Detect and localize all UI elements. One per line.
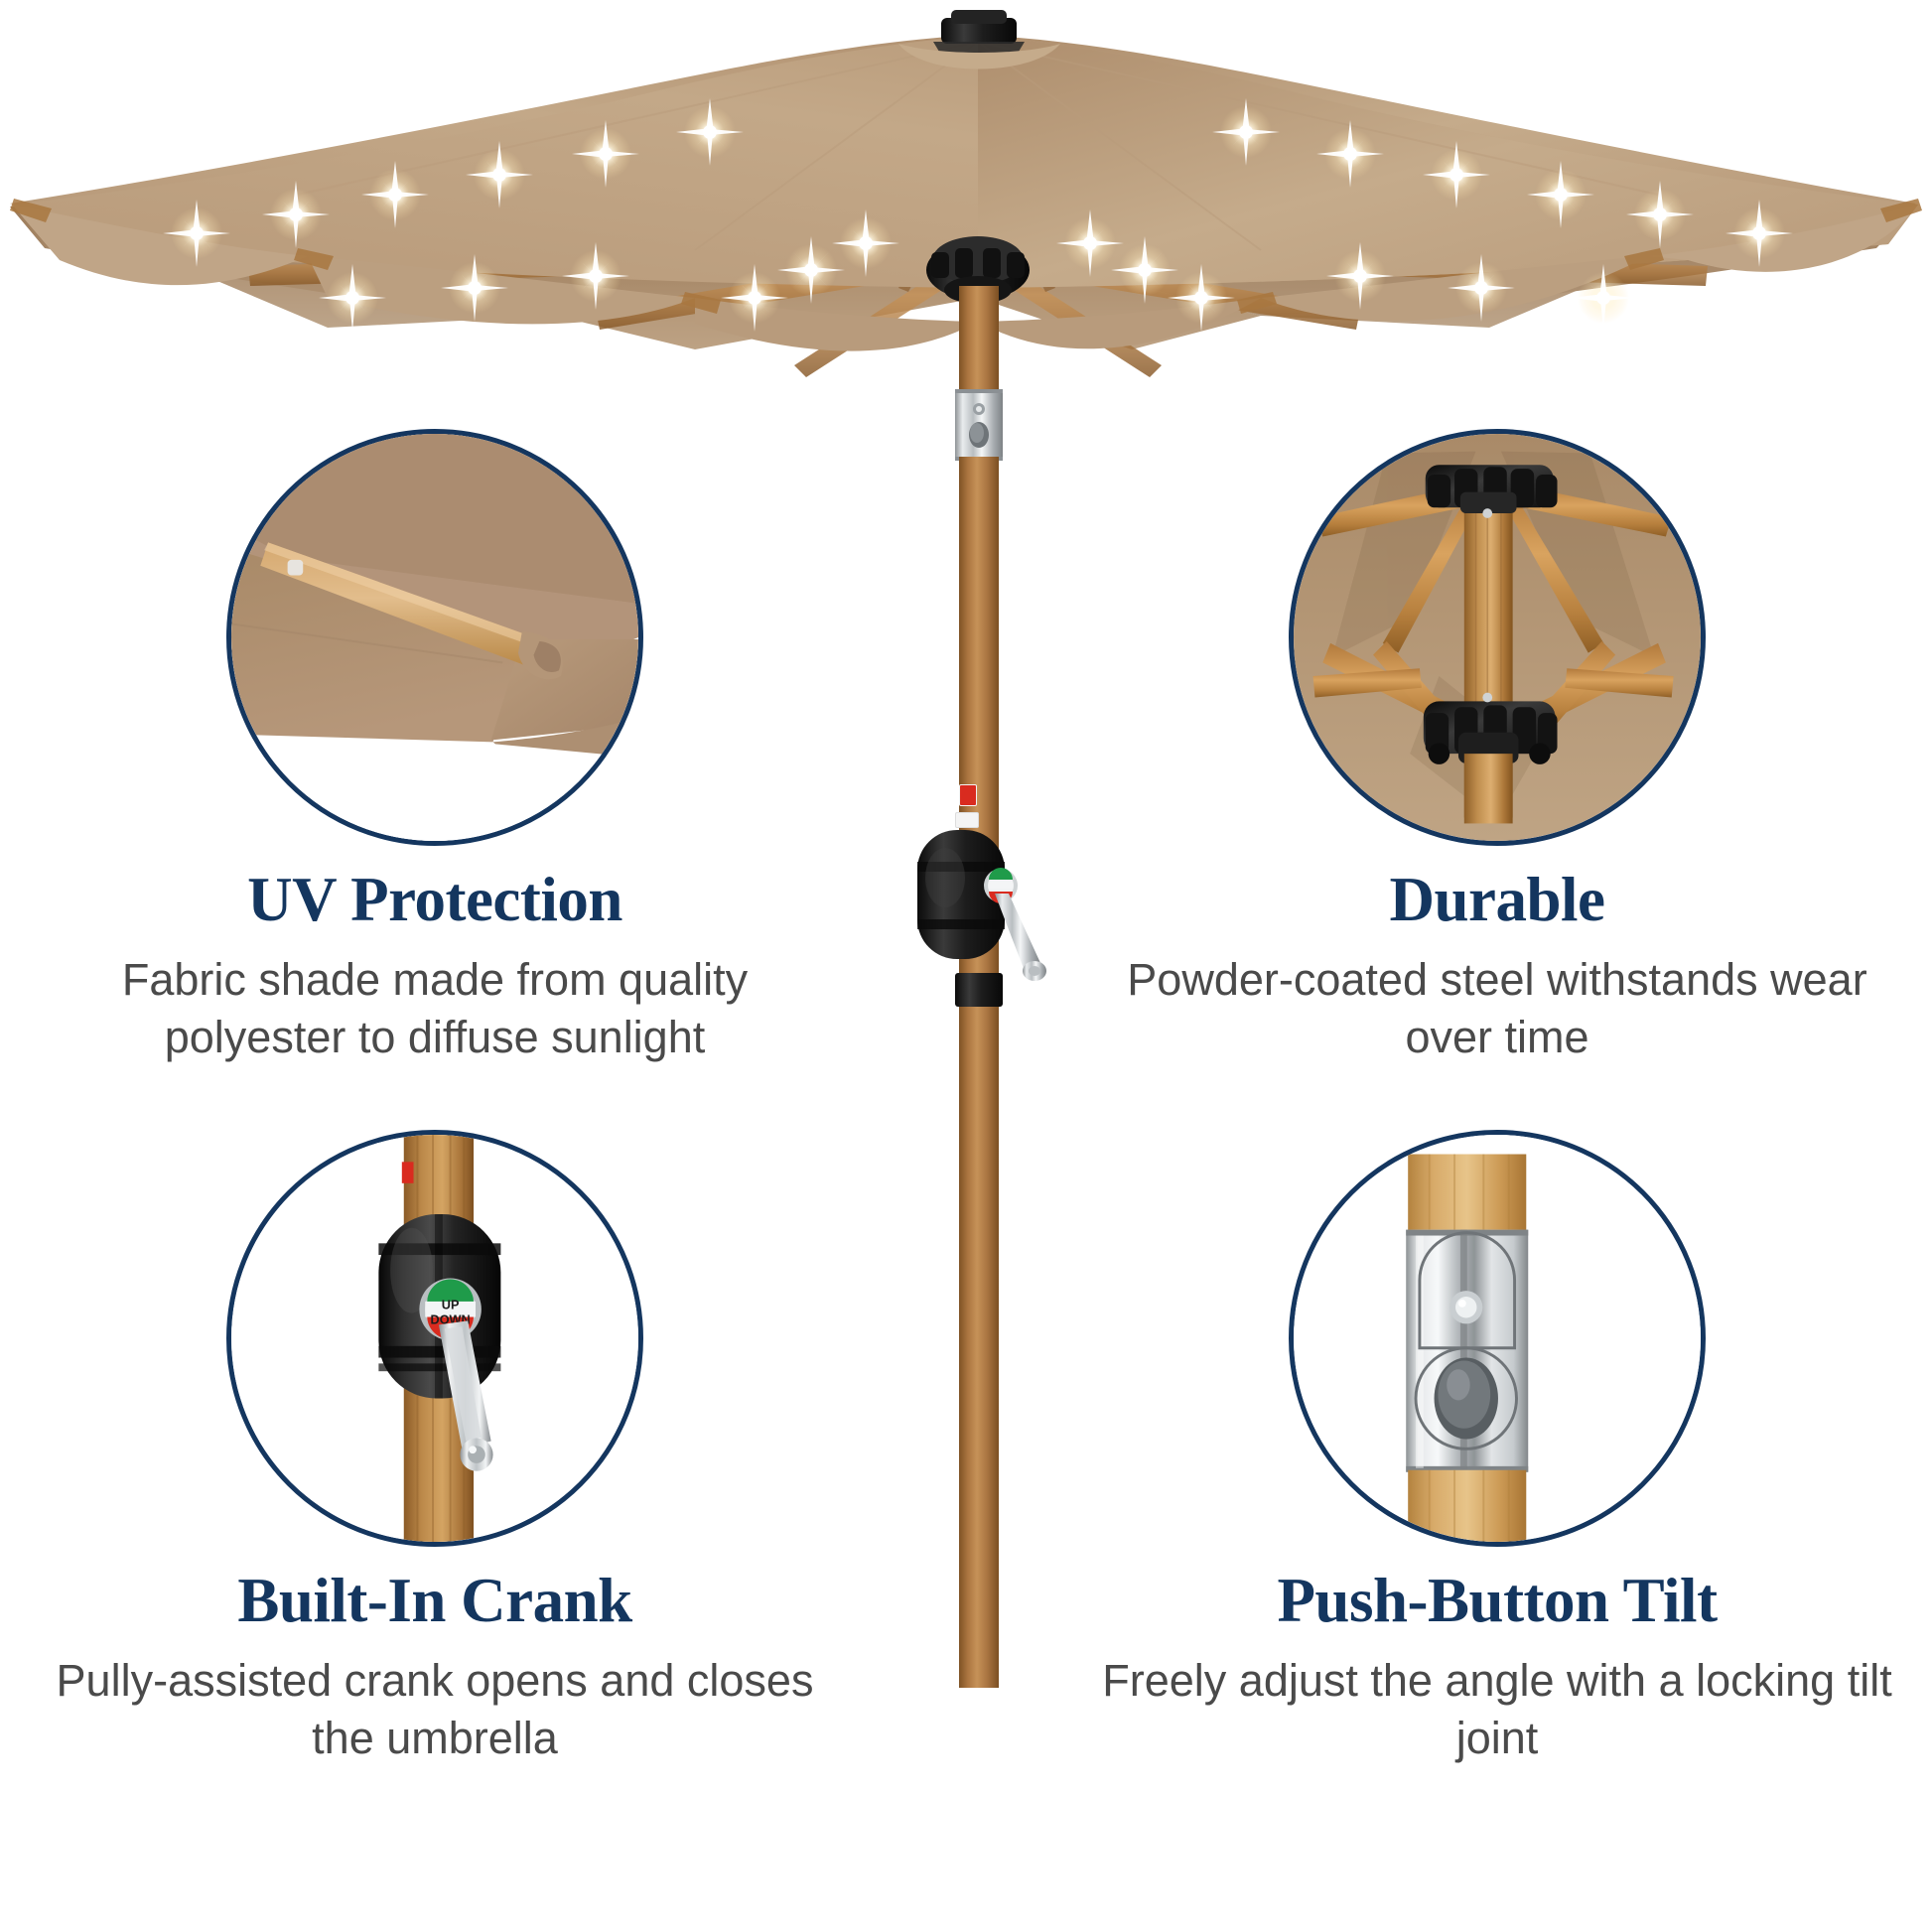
feature-card-built-in-crank: UP DOWN Built-In Crank Pully-assisted cr… [18, 1130, 852, 1768]
circle-frame [1289, 429, 1706, 846]
feature-inset-built-in-crank: UP DOWN [226, 1130, 643, 1547]
circle-frame [226, 429, 643, 846]
circle-frame: UP DOWN [226, 1130, 643, 1547]
feature-description: Powder-coated steel withstands wear over… [1100, 951, 1894, 1067]
feature-card-push-button-tilt: Push-Button Tilt Freely adjust the angle… [1080, 1130, 1914, 1768]
circle-frame [1289, 1130, 1706, 1547]
feature-description: Fabric shade made from quality polyester… [38, 951, 832, 1067]
feature-inset-durable [1289, 429, 1706, 846]
feature-title: UV Protection [18, 868, 852, 933]
feature-description: Pully-assisted crank opens and closes th… [38, 1652, 832, 1768]
feature-title: Built-In Crank [18, 1569, 852, 1634]
feature-card-uv-protection: UV Protection Fabric shade made from qua… [18, 429, 852, 1067]
pole-warning-sticker [959, 784, 977, 806]
feature-inset-push-button-tilt [1289, 1130, 1706, 1547]
infographic-canvas: UV Protection Fabric shade made from qua… [0, 0, 1932, 1932]
feature-title: Durable [1080, 868, 1914, 933]
feature-description: Freely adjust the angle with a locking t… [1100, 1652, 1894, 1768]
pole-label-sticker [955, 812, 979, 828]
feature-title: Push-Button Tilt [1080, 1569, 1914, 1634]
crank-dial-up-text: UP [442, 1299, 460, 1312]
feature-inset-uv-protection [226, 429, 643, 846]
feature-card-durable: Durable Powder-coated steel withstands w… [1080, 429, 1914, 1067]
